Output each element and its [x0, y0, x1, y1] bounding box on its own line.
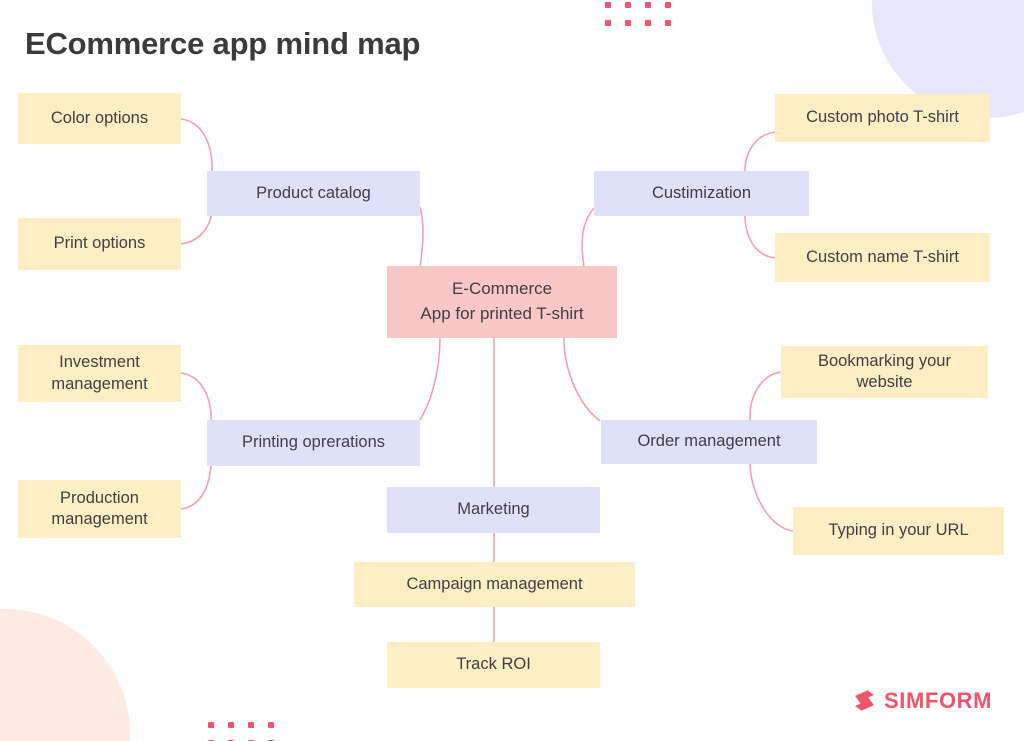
connector-center-to-printing-oprerations [420, 338, 440, 420]
dot [665, 20, 671, 26]
connector-center-to-order-management [564, 338, 600, 421]
node-campaign-management[interactable]: Campaign management [354, 562, 635, 607]
node-production-management[interactable]: Production management [18, 480, 181, 538]
dot [625, 20, 631, 26]
connector-center-to-custimization [582, 208, 594, 267]
node-product-catalog[interactable]: Product catalog [207, 171, 420, 216]
dot [645, 2, 651, 8]
node-custom-name-t-shirt[interactable]: Custom name T-shirt [775, 233, 990, 282]
center-node-line-1: E-Commerce [420, 277, 583, 302]
dot [625, 2, 631, 8]
node-custimization[interactable]: Custimization [594, 171, 809, 216]
node-production-management-line-1: Production [51, 488, 147, 509]
connector-custimization-to-custom-photo [745, 132, 775, 174]
node-investment-management[interactable]: Investment management [18, 345, 181, 402]
simform-logo-mark-icon [852, 688, 877, 713]
dot [665, 2, 671, 8]
dot [268, 722, 274, 728]
decorative-dot-grid-bottom [208, 722, 274, 741]
simform-logo: SIMFORM [852, 688, 992, 713]
node-bookmarking-line-1: Bookmarking your [818, 351, 951, 372]
center-node-line-2: App for printed T-shirt [420, 302, 583, 327]
connector-product-catalog-to-color-options [181, 119, 212, 172]
connector-order-to-typing-url [750, 464, 793, 531]
dot [605, 2, 611, 8]
decorative-dot-grid-top [605, 2, 671, 26]
node-color-options[interactable]: Color options [18, 93, 181, 144]
mind-map-canvas: ECommerce app mind map [0, 0, 1024, 741]
node-typing-in-your-url[interactable]: Typing in your URL [793, 507, 1004, 555]
dot [605, 20, 611, 26]
dot [645, 20, 651, 26]
dot [228, 722, 234, 728]
node-order-management[interactable]: Order management [601, 420, 817, 464]
connector-custimization-to-custom-name [745, 210, 775, 258]
simform-logo-text: SIMFORM [884, 690, 992, 712]
dot [248, 722, 254, 728]
connector-order-to-bookmarking [750, 372, 781, 420]
page-title: ECommerce app mind map [25, 26, 420, 62]
node-print-options[interactable]: Print options [18, 218, 181, 270]
node-custom-photo-t-shirt[interactable]: Custom photo T-shirt [775, 94, 990, 142]
node-track-roi[interactable]: Track ROI [387, 642, 600, 688]
node-bookmarking-line-2: website [818, 372, 951, 393]
decorative-circle-bottom-left [0, 609, 130, 741]
connector-printing-to-investment [181, 373, 211, 422]
node-printing-oprerations[interactable]: Printing oprerations [207, 420, 420, 466]
node-marketing[interactable]: Marketing [387, 487, 600, 533]
connector-center-to-product-catalog [420, 207, 423, 267]
center-node[interactable]: E-Commerce App for printed T-shirt [387, 266, 617, 338]
node-investment-management-line-1: Investment [51, 352, 147, 373]
node-investment-management-line-2: management [51, 374, 147, 395]
node-bookmarking-your-website[interactable]: Bookmarking your website [781, 346, 988, 398]
node-production-management-line-2: management [51, 509, 147, 530]
dot [208, 722, 214, 728]
